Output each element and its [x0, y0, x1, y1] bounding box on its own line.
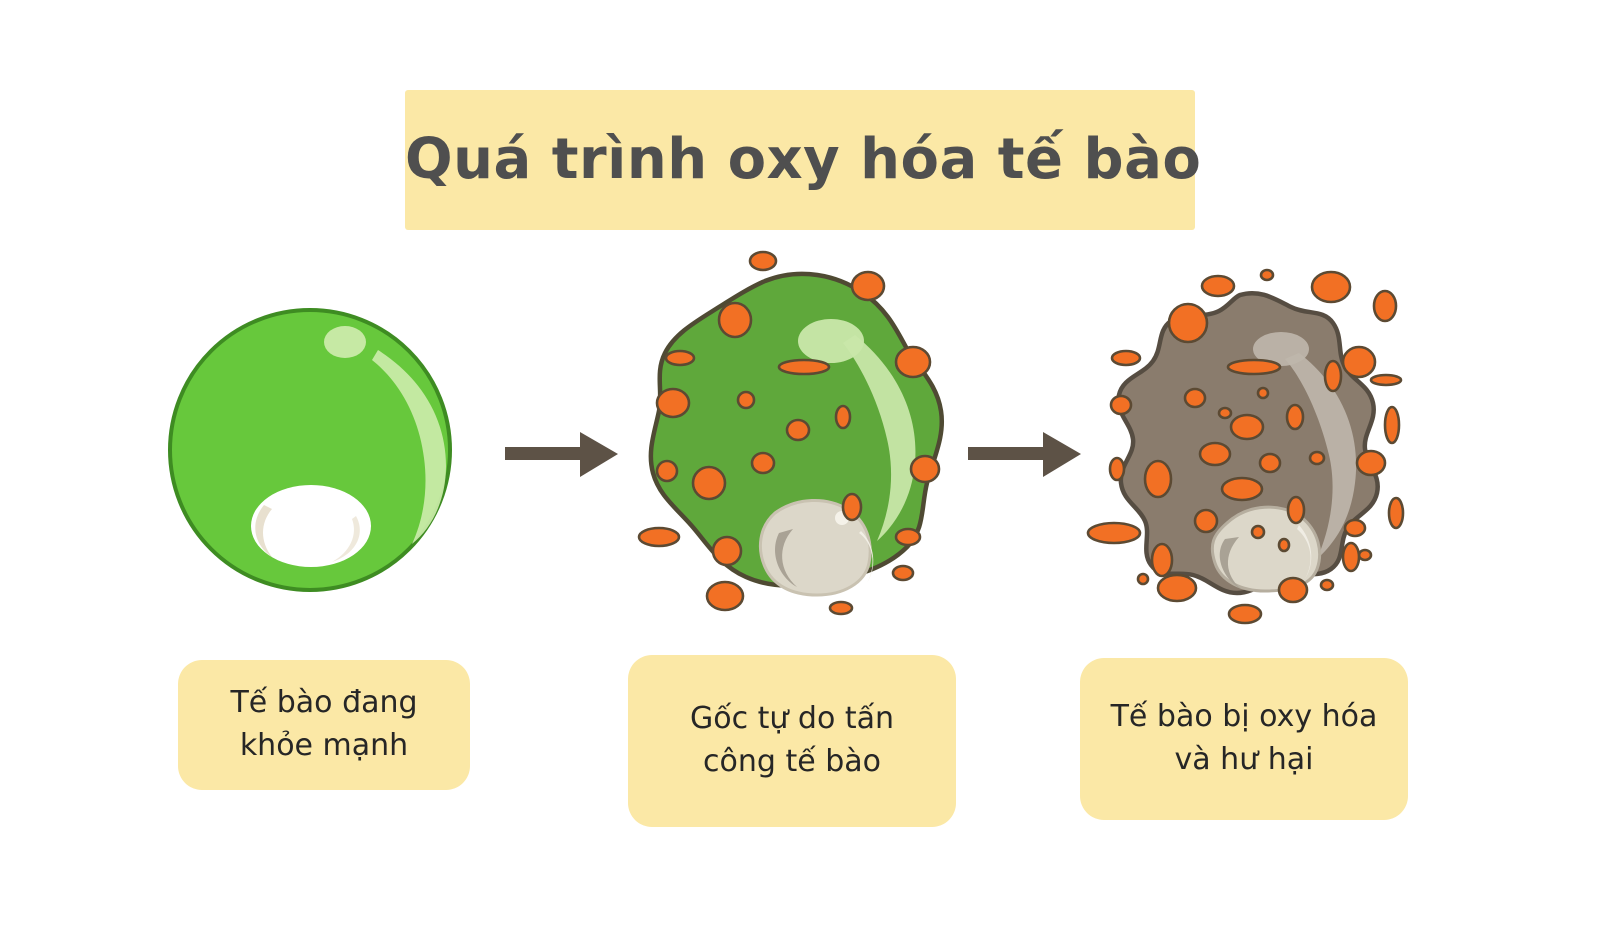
free-radical-dot: [1343, 543, 1359, 571]
free-radical-dot: [1200, 443, 1230, 465]
free-radical-dot: [1287, 405, 1303, 429]
caption-line: công tế bào: [690, 741, 894, 784]
free-radical-dot: [1325, 361, 1341, 391]
free-radical-dot: [713, 537, 741, 565]
free-radical-dot: [1389, 498, 1403, 528]
caption-oxidized-cell: Tế bào bị oxy hóa và hư hại: [1080, 658, 1408, 820]
free-radical-dot: [843, 494, 861, 520]
free-radical-dot: [1222, 478, 1262, 500]
free-radical-dot: [738, 392, 754, 408]
free-radical-dot: [1185, 389, 1205, 407]
healthy-cell-illustration: [160, 290, 490, 610]
free-radical-dot: [1258, 388, 1268, 398]
free-radical-dot: [693, 467, 725, 499]
free-radical-dot: [1252, 526, 1264, 538]
free-radical-dot: [1279, 539, 1289, 551]
free-radical-dot: [1371, 375, 1401, 385]
caption-line: Tế bào đang: [230, 682, 417, 725]
free-radical-dot: [1152, 544, 1172, 576]
free-radical-dot: [836, 406, 850, 428]
free-radical-dot: [1343, 347, 1375, 377]
free-radical-dot: [1195, 510, 1217, 532]
free-radical-dot: [1088, 523, 1140, 543]
free-radical-dot: [787, 420, 809, 440]
free-radical-dot: [1169, 304, 1207, 342]
free-radical-dot: [1111, 396, 1131, 414]
free-radical-dot: [893, 566, 913, 580]
free-radical-dot: [1158, 575, 1196, 601]
free-radical-dot: [1261, 270, 1273, 280]
caption-line: Tế bào bị oxy hóa: [1111, 696, 1378, 739]
oxidized-damaged-cell-illustration: [1055, 245, 1425, 630]
free-radical-dot: [1312, 272, 1350, 302]
free-radical-dot: [1310, 452, 1324, 464]
free-radical-dot: [1202, 276, 1234, 296]
free-radical-dot: [1385, 407, 1399, 443]
free-radical-dot: [911, 456, 939, 482]
free-radical-dot: [719, 303, 751, 337]
free-radical-dot: [779, 360, 829, 374]
free-radical-dot: [1321, 580, 1333, 590]
caption-healthy-cell: Tế bào đang khỏe mạnh: [178, 660, 470, 790]
free-radical-dot: [1231, 415, 1263, 439]
caption-free-radical-attack: Gốc tự do tấn công tế bào: [628, 655, 956, 827]
caption-line: và hư hại: [1111, 739, 1378, 782]
free-radical-dot: [1229, 605, 1261, 623]
free-radical-dot: [1260, 454, 1280, 472]
attacked-cell-dot-highlight: [798, 319, 864, 363]
free-radical-dot: [1219, 408, 1231, 418]
free-radical-dot: [896, 529, 920, 545]
free-radical-dot: [750, 252, 776, 270]
free-radical-dot: [1288, 497, 1304, 523]
page-title: Quá trình oxy hóa tế bào: [405, 112, 1195, 208]
free-radical-dot: [657, 461, 677, 481]
free-radical-dot: [1110, 458, 1124, 480]
free-radical-dot: [1112, 351, 1140, 365]
free-radical-dot: [1357, 451, 1385, 475]
free-radical-dot: [1374, 291, 1396, 321]
infographic-canvas: Quá trình oxy hóa tế bào: [0, 0, 1600, 940]
free-radical-dot: [666, 351, 694, 365]
caption-line: Gốc tự do tấn: [690, 698, 894, 741]
free-radical-dot: [1138, 574, 1148, 584]
caption-line: khỏe mạnh: [230, 725, 417, 768]
free-radical-dot: [830, 602, 852, 614]
free-radical-dot: [896, 347, 930, 377]
free-radical-dot: [639, 528, 679, 546]
free-radical-dot: [1359, 550, 1371, 560]
free-radical-dot: [852, 272, 884, 300]
free-radical-dot: [657, 389, 689, 417]
free-radical-attacked-cell-illustration: [615, 245, 985, 620]
free-radical-dot: [707, 582, 743, 610]
free-radical-dot: [752, 453, 774, 473]
arrow-right-icon: [500, 425, 625, 485]
healthy-cell-dot-highlight: [324, 326, 366, 358]
free-radical-dot: [1228, 360, 1280, 374]
free-radical-dot: [1345, 520, 1365, 536]
free-radical-dot: [1279, 578, 1307, 602]
free-radical-dot: [1145, 461, 1171, 497]
